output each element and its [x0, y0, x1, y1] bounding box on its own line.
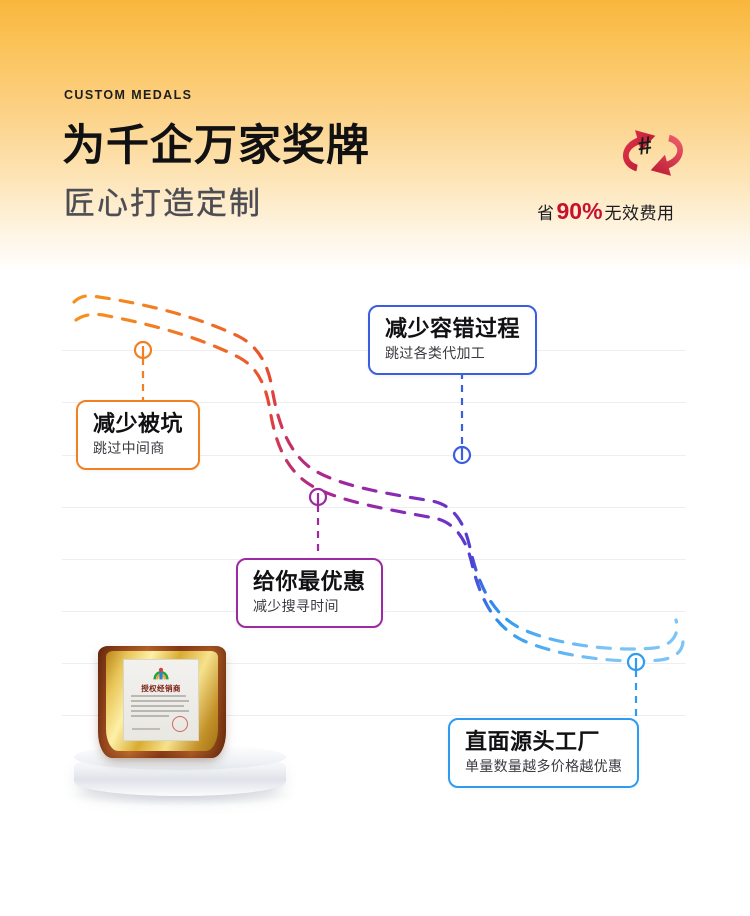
- chart-marker-1: [135, 342, 151, 400]
- page-title: 为千企万家奖牌: [62, 122, 370, 170]
- savings-badge: #: [612, 122, 694, 184]
- callout-subtitle: 减少搜寻时间: [253, 598, 366, 615]
- certificate-red-stamp-icon: [172, 716, 188, 732]
- product-image-award-plaque: 授权经销商: [62, 640, 302, 815]
- callout-subtitle: 单量数量越多价格越优惠: [465, 758, 622, 775]
- plaque-certificate: 授权经销商: [123, 659, 199, 741]
- certificate-line: [131, 700, 189, 702]
- bottom-whitespace: [0, 822, 750, 916]
- savings-text: 省90%无效费用: [537, 198, 675, 225]
- savings-percent: 90%: [555, 198, 605, 224]
- certificate-title: 授权经销商: [124, 683, 198, 694]
- chart-marker-4: [628, 654, 644, 718]
- chart-marker-3: [310, 489, 326, 554]
- callout-title: 减少容错过程: [385, 316, 520, 342]
- callout-title: 减少被坑: [93, 411, 183, 437]
- page-subtitle: 匠心打造定制: [64, 186, 262, 222]
- callout-card-direct-factory[interactable]: 直面源头工厂 单量数量越多价格越优惠: [448, 718, 639, 788]
- callout-card-reduce-errors[interactable]: 减少容错过程 跳过各类代加工: [368, 305, 537, 375]
- certificate-line: [131, 710, 189, 712]
- promo-banner-page: CUSTOM MEDALS 为千企万家奖牌 匠心打造定制 # 省90%无效费用: [0, 0, 750, 916]
- callout-card-best-price[interactable]: 给你最优惠 减少搜寻时间: [236, 558, 383, 628]
- certificate-line: [131, 705, 184, 707]
- savings-prefix: 省: [537, 204, 555, 223]
- callout-title: 给你最优惠: [253, 569, 366, 595]
- certificate-footer-line: [132, 728, 160, 730]
- savings-suffix: 无效费用: [605, 204, 675, 223]
- certificate-line: [131, 695, 186, 697]
- callout-title: 直面源头工厂: [465, 729, 622, 755]
- callout-subtitle: 跳过各类代加工: [385, 345, 520, 362]
- callout-card-reduce-scams[interactable]: 减少被坑 跳过中间商: [76, 400, 200, 470]
- certificate-logo-icon: [151, 665, 171, 681]
- plaque: 授权经销商: [98, 646, 226, 758]
- eyebrow-label: CUSTOM MEDALS: [64, 88, 192, 102]
- callout-subtitle: 跳过中间商: [93, 440, 183, 457]
- chart-marker-2: [454, 372, 470, 463]
- certificate-line: [131, 715, 169, 717]
